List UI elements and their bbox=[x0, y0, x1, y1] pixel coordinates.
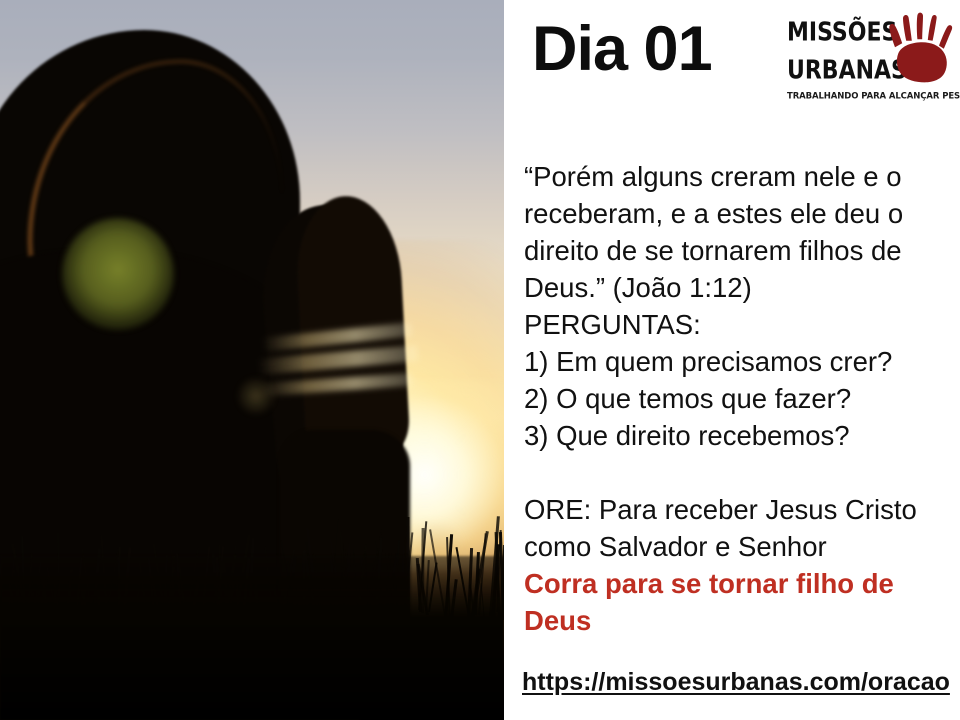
missoes-urbanas-logo: MISSÕES URBANAS TRABALHANDO PARA ALCANÇA… bbox=[783, 10, 959, 110]
verse-line-3: direito de se tornarem filhos de bbox=[524, 232, 944, 269]
lens-flare-small bbox=[236, 376, 276, 416]
devotional-body: “Porém alguns creram nele e o receberam,… bbox=[524, 158, 944, 639]
call-to-action-line-2: Deus bbox=[524, 602, 944, 639]
question-item-2: 2) O que temos que fazer? bbox=[524, 380, 944, 417]
logo-tagline: TRABALHANDO PARA ALCANÇAR PESSOAS bbox=[787, 91, 960, 102]
question-item-3: 3) Que direito recebemos? bbox=[524, 417, 944, 454]
website-url[interactable]: https://missoesurbanas.com/oracao bbox=[522, 668, 950, 697]
content-panel: Dia 01 MISSÕES URBANAS TRABALHANDO PARA … bbox=[504, 0, 960, 720]
devotional-slide: Dia 01 MISSÕES URBANAS TRABALHANDO PARA … bbox=[0, 0, 960, 720]
verse-line-4: Deus.” (João 1:12) bbox=[524, 269, 944, 306]
question-item-1: 1) Em quem precisamos crer? bbox=[524, 343, 944, 380]
foreground-ground bbox=[0, 556, 504, 720]
questions-heading: PERGUNTAS: bbox=[524, 306, 944, 343]
prayer-sunset-photo bbox=[0, 0, 504, 720]
verse-line-1: “Porém alguns creram nele e o bbox=[524, 158, 944, 195]
green-lens-flare bbox=[62, 218, 174, 330]
paragraph-spacer bbox=[524, 454, 944, 491]
prayer-line-1: ORE: Para receber Jesus Cristo bbox=[524, 491, 944, 528]
call-to-action-line-1: Corra para se tornar filho de bbox=[524, 565, 944, 602]
verse-line-2: receberam, e a estes ele deu o bbox=[524, 195, 944, 232]
red-handprint-icon bbox=[879, 12, 959, 92]
prayer-line-2: como Salvador e Senhor bbox=[524, 528, 944, 565]
page-title: Dia 01 bbox=[532, 18, 712, 81]
